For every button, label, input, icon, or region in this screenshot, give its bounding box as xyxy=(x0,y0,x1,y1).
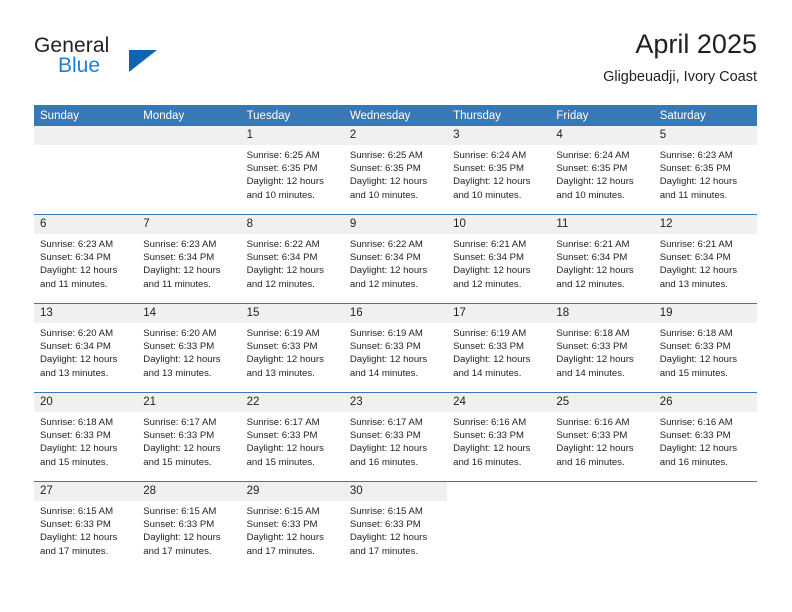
daylight-text-line1: Daylight: 12 hours xyxy=(143,353,233,366)
day-number: 26 xyxy=(654,393,757,412)
calendar-week-row: 27Sunrise: 6:15 AMSunset: 6:33 PMDayligh… xyxy=(34,482,757,571)
sunset-text: Sunset: 6:33 PM xyxy=(247,340,337,353)
day-cell[interactable]: 29Sunrise: 6:15 AMSunset: 6:33 PMDayligh… xyxy=(241,482,344,570)
calendar-cell: 18Sunrise: 6:18 AMSunset: 6:33 PMDayligh… xyxy=(550,304,653,393)
daylight-text-line1: Daylight: 12 hours xyxy=(660,442,750,455)
calendar-cell: 8Sunrise: 6:22 AMSunset: 6:34 PMDaylight… xyxy=(241,215,344,304)
day-number: 16 xyxy=(344,304,447,323)
daylight-text-line2: and 15 minutes. xyxy=(143,456,233,469)
sunrise-text: Sunrise: 6:22 AM xyxy=(350,238,440,251)
daylight-text-line1: Daylight: 12 hours xyxy=(350,353,440,366)
daylight-text-line2: and 15 minutes. xyxy=(247,456,337,469)
logo-text-blue: Blue xyxy=(58,54,100,78)
sunset-text: Sunset: 6:33 PM xyxy=(350,429,440,442)
calendar-page: General Blue April 2025 Gligbeuadji, Ivo… xyxy=(0,0,792,612)
day-info: Sunrise: 6:20 AMSunset: 6:34 PMDaylight:… xyxy=(34,323,137,380)
daylight-text-line1: Daylight: 12 hours xyxy=(350,264,440,277)
sunset-text: Sunset: 6:35 PM xyxy=(660,162,750,175)
day-info: Sunrise: 6:23 AMSunset: 6:35 PMDaylight:… xyxy=(654,145,757,202)
weekday-header-saturday: Saturday xyxy=(654,105,757,126)
sunset-text: Sunset: 6:34 PM xyxy=(453,251,543,264)
daylight-text-line1: Daylight: 12 hours xyxy=(556,353,646,366)
day-info: Sunrise: 6:17 AMSunset: 6:33 PMDaylight:… xyxy=(344,412,447,469)
day-info: Sunrise: 6:18 AMSunset: 6:33 PMDaylight:… xyxy=(34,412,137,469)
day-info: Sunrise: 6:18 AMSunset: 6:33 PMDaylight:… xyxy=(550,323,653,380)
sunrise-text: Sunrise: 6:16 AM xyxy=(453,416,543,429)
weekday-header-monday: Monday xyxy=(137,105,240,126)
sunset-text: Sunset: 6:33 PM xyxy=(556,429,646,442)
daylight-text-line1: Daylight: 12 hours xyxy=(453,442,543,455)
day-info: Sunrise: 6:23 AMSunset: 6:34 PMDaylight:… xyxy=(137,234,240,291)
day-info: Sunrise: 6:23 AMSunset: 6:34 PMDaylight:… xyxy=(34,234,137,291)
day-cell[interactable]: 23Sunrise: 6:17 AMSunset: 6:33 PMDayligh… xyxy=(344,393,447,481)
sunset-text: Sunset: 6:33 PM xyxy=(453,340,543,353)
daylight-text-line2: and 16 minutes. xyxy=(350,456,440,469)
calendar-header-row: Sunday Monday Tuesday Wednesday Thursday… xyxy=(34,105,757,126)
title-block: April 2025 Gligbeuadji, Ivory Coast xyxy=(603,28,757,86)
sunrise-text: Sunrise: 6:25 AM xyxy=(350,149,440,162)
day-number: 11 xyxy=(550,215,653,234)
day-info: Sunrise: 6:17 AMSunset: 6:33 PMDaylight:… xyxy=(241,412,344,469)
calendar-cell xyxy=(447,482,550,571)
day-info: Sunrise: 6:21 AMSunset: 6:34 PMDaylight:… xyxy=(550,234,653,291)
daylight-text-line2: and 13 minutes. xyxy=(247,367,337,380)
sunrise-text: Sunrise: 6:17 AM xyxy=(143,416,233,429)
day-cell[interactable]: 5Sunrise: 6:23 AMSunset: 6:35 PMDaylight… xyxy=(654,126,757,214)
sunrise-text: Sunrise: 6:18 AM xyxy=(40,416,130,429)
calendar-cell: 15Sunrise: 6:19 AMSunset: 6:33 PMDayligh… xyxy=(241,304,344,393)
day-cell[interactable]: 12Sunrise: 6:21 AMSunset: 6:34 PMDayligh… xyxy=(654,215,757,303)
day-number: 4 xyxy=(550,126,653,145)
day-number: 5 xyxy=(654,126,757,145)
sunset-text: Sunset: 6:33 PM xyxy=(143,429,233,442)
calendar-cell: 3Sunrise: 6:24 AMSunset: 6:35 PMDaylight… xyxy=(447,126,550,215)
day-cell[interactable]: 19Sunrise: 6:18 AMSunset: 6:33 PMDayligh… xyxy=(654,304,757,392)
day-number xyxy=(34,126,137,145)
calendar-week-row: 13Sunrise: 6:20 AMSunset: 6:34 PMDayligh… xyxy=(34,304,757,393)
day-number: 28 xyxy=(137,482,240,501)
daylight-text-line1: Daylight: 12 hours xyxy=(40,264,130,277)
logo-triangle-icon xyxy=(129,50,157,72)
sunrise-text: Sunrise: 6:16 AM xyxy=(660,416,750,429)
calendar-cell: 1Sunrise: 6:25 AMSunset: 6:35 PMDaylight… xyxy=(241,126,344,215)
day-number: 6 xyxy=(34,215,137,234)
weekday-header-friday: Friday xyxy=(550,105,653,126)
day-info: Sunrise: 6:19 AMSunset: 6:33 PMDaylight:… xyxy=(241,323,344,380)
daylight-text-line1: Daylight: 12 hours xyxy=(40,442,130,455)
daylight-text-line1: Daylight: 12 hours xyxy=(660,175,750,188)
day-number: 9 xyxy=(344,215,447,234)
sunrise-text: Sunrise: 6:23 AM xyxy=(660,149,750,162)
day-cell[interactable]: 18Sunrise: 6:18 AMSunset: 6:33 PMDayligh… xyxy=(550,304,653,392)
daylight-text-line2: and 10 minutes. xyxy=(350,189,440,202)
calendar-cell xyxy=(34,126,137,215)
sunrise-text: Sunrise: 6:20 AM xyxy=(143,327,233,340)
sunrise-text: Sunrise: 6:24 AM xyxy=(556,149,646,162)
day-info: Sunrise: 6:16 AMSunset: 6:33 PMDaylight:… xyxy=(550,412,653,469)
sunset-text: Sunset: 6:35 PM xyxy=(247,162,337,175)
calendar-cell: 7Sunrise: 6:23 AMSunset: 6:34 PMDaylight… xyxy=(137,215,240,304)
day-number: 14 xyxy=(137,304,240,323)
calendar-cell: 28Sunrise: 6:15 AMSunset: 6:33 PMDayligh… xyxy=(137,482,240,571)
daylight-text-line2: and 10 minutes. xyxy=(247,189,337,202)
calendar-week-row: 20Sunrise: 6:18 AMSunset: 6:33 PMDayligh… xyxy=(34,393,757,482)
daylight-text-line2: and 14 minutes. xyxy=(453,367,543,380)
day-number: 30 xyxy=(344,482,447,501)
sunrise-text: Sunrise: 6:22 AM xyxy=(247,238,337,251)
calendar-cell: 14Sunrise: 6:20 AMSunset: 6:33 PMDayligh… xyxy=(137,304,240,393)
weekday-header-tuesday: Tuesday xyxy=(241,105,344,126)
daylight-text-line1: Daylight: 12 hours xyxy=(247,175,337,188)
sunrise-text: Sunrise: 6:23 AM xyxy=(143,238,233,251)
daylight-text-line2: and 11 minutes. xyxy=(40,278,130,291)
day-info: Sunrise: 6:15 AMSunset: 6:33 PMDaylight:… xyxy=(137,501,240,558)
day-cell[interactable]: 24Sunrise: 6:16 AMSunset: 6:33 PMDayligh… xyxy=(447,393,550,481)
day-number: 10 xyxy=(447,215,550,234)
daylight-text-line2: and 13 minutes. xyxy=(40,367,130,380)
daylight-text-line2: and 17 minutes. xyxy=(350,545,440,558)
day-cell[interactable]: 14Sunrise: 6:20 AMSunset: 6:33 PMDayligh… xyxy=(137,304,240,392)
sunset-text: Sunset: 6:33 PM xyxy=(247,518,337,531)
calendar-cell: 4Sunrise: 6:24 AMSunset: 6:35 PMDaylight… xyxy=(550,126,653,215)
daylight-text-line1: Daylight: 12 hours xyxy=(40,353,130,366)
calendar-cell: 26Sunrise: 6:16 AMSunset: 6:33 PMDayligh… xyxy=(654,393,757,482)
day-cell[interactable]: 26Sunrise: 6:16 AMSunset: 6:33 PMDayligh… xyxy=(654,393,757,481)
sunset-text: Sunset: 6:34 PM xyxy=(556,251,646,264)
day-info: Sunrise: 6:15 AMSunset: 6:33 PMDaylight:… xyxy=(34,501,137,558)
daylight-text-line2: and 12 minutes. xyxy=(247,278,337,291)
calendar-cell: 19Sunrise: 6:18 AMSunset: 6:33 PMDayligh… xyxy=(654,304,757,393)
daylight-text-line2: and 14 minutes. xyxy=(556,367,646,380)
daylight-text-line2: and 13 minutes. xyxy=(660,278,750,291)
day-info: Sunrise: 6:19 AMSunset: 6:33 PMDaylight:… xyxy=(447,323,550,380)
daylight-text-line2: and 10 minutes. xyxy=(556,189,646,202)
sunset-text: Sunset: 6:33 PM xyxy=(660,340,750,353)
calendar-cell: 17Sunrise: 6:19 AMSunset: 6:33 PMDayligh… xyxy=(447,304,550,393)
sunset-text: Sunset: 6:33 PM xyxy=(143,340,233,353)
day-number: 7 xyxy=(137,215,240,234)
calendar-cell: 20Sunrise: 6:18 AMSunset: 6:33 PMDayligh… xyxy=(34,393,137,482)
day-cell[interactable]: 13Sunrise: 6:20 AMSunset: 6:34 PMDayligh… xyxy=(34,304,137,392)
sunrise-text: Sunrise: 6:16 AM xyxy=(556,416,646,429)
daylight-text-line2: and 12 minutes. xyxy=(350,278,440,291)
weekday-header-thursday: Thursday xyxy=(447,105,550,126)
daylight-text-line2: and 17 minutes. xyxy=(40,545,130,558)
calendar-cell: 21Sunrise: 6:17 AMSunset: 6:33 PMDayligh… xyxy=(137,393,240,482)
day-info: Sunrise: 6:18 AMSunset: 6:33 PMDaylight:… xyxy=(654,323,757,380)
calendar-cell: 24Sunrise: 6:16 AMSunset: 6:33 PMDayligh… xyxy=(447,393,550,482)
calendar-cell xyxy=(550,482,653,571)
daylight-text-line2: and 14 minutes. xyxy=(350,367,440,380)
daylight-text-line2: and 17 minutes. xyxy=(247,545,337,558)
sunset-text: Sunset: 6:33 PM xyxy=(247,429,337,442)
day-cell-empty xyxy=(550,482,653,570)
calendar-cell: 5Sunrise: 6:23 AMSunset: 6:35 PMDaylight… xyxy=(654,126,757,215)
daylight-text-line2: and 10 minutes. xyxy=(453,189,543,202)
day-info: Sunrise: 6:16 AMSunset: 6:33 PMDaylight:… xyxy=(654,412,757,469)
day-number xyxy=(447,482,550,501)
sunset-text: Sunset: 6:33 PM xyxy=(350,518,440,531)
daylight-text-line2: and 13 minutes. xyxy=(143,367,233,380)
day-info: Sunrise: 6:20 AMSunset: 6:33 PMDaylight:… xyxy=(137,323,240,380)
weekday-header-sunday: Sunday xyxy=(34,105,137,126)
day-cell[interactable]: 3Sunrise: 6:24 AMSunset: 6:35 PMDaylight… xyxy=(447,126,550,214)
day-cell[interactable]: 28Sunrise: 6:15 AMSunset: 6:33 PMDayligh… xyxy=(137,482,240,570)
day-cell-empty xyxy=(34,126,137,214)
daylight-text-line2: and 11 minutes. xyxy=(660,189,750,202)
daylight-text-line1: Daylight: 12 hours xyxy=(247,264,337,277)
day-cell[interactable]: 15Sunrise: 6:19 AMSunset: 6:33 PMDayligh… xyxy=(241,304,344,392)
day-cell[interactable]: 17Sunrise: 6:19 AMSunset: 6:33 PMDayligh… xyxy=(447,304,550,392)
daylight-text-line2: and 17 minutes. xyxy=(143,545,233,558)
day-number: 15 xyxy=(241,304,344,323)
sunset-text: Sunset: 6:33 PM xyxy=(350,340,440,353)
day-cell[interactable]: 21Sunrise: 6:17 AMSunset: 6:33 PMDayligh… xyxy=(137,393,240,481)
day-cell[interactable]: 20Sunrise: 6:18 AMSunset: 6:33 PMDayligh… xyxy=(34,393,137,481)
calendar-cell: 25Sunrise: 6:16 AMSunset: 6:33 PMDayligh… xyxy=(550,393,653,482)
sunrise-text: Sunrise: 6:18 AM xyxy=(660,327,750,340)
calendar-cell: 12Sunrise: 6:21 AMSunset: 6:34 PMDayligh… xyxy=(654,215,757,304)
sunset-text: Sunset: 6:34 PM xyxy=(660,251,750,264)
daylight-text-line1: Daylight: 12 hours xyxy=(556,264,646,277)
sunrise-text: Sunrise: 6:15 AM xyxy=(143,505,233,518)
day-info: Sunrise: 6:25 AMSunset: 6:35 PMDaylight:… xyxy=(344,145,447,202)
day-number: 8 xyxy=(241,215,344,234)
calendar-body: 1Sunrise: 6:25 AMSunset: 6:35 PMDaylight… xyxy=(34,126,757,570)
sunrise-text: Sunrise: 6:17 AM xyxy=(350,416,440,429)
sunrise-text: Sunrise: 6:19 AM xyxy=(350,327,440,340)
sunset-text: Sunset: 6:34 PM xyxy=(247,251,337,264)
sunrise-text: Sunrise: 6:24 AM xyxy=(453,149,543,162)
daylight-text-line1: Daylight: 12 hours xyxy=(556,175,646,188)
daylight-text-line2: and 16 minutes. xyxy=(556,456,646,469)
calendar-week-row: 1Sunrise: 6:25 AMSunset: 6:35 PMDaylight… xyxy=(34,126,757,215)
sunset-text: Sunset: 6:34 PM xyxy=(40,251,130,264)
daylight-text-line1: Daylight: 12 hours xyxy=(453,353,543,366)
page-title: April 2025 xyxy=(603,28,757,60)
day-cell[interactable]: 9Sunrise: 6:22 AMSunset: 6:34 PMDaylight… xyxy=(344,215,447,303)
calendar-cell: 23Sunrise: 6:17 AMSunset: 6:33 PMDayligh… xyxy=(344,393,447,482)
day-number: 2 xyxy=(344,126,447,145)
calendar-week-row: 6Sunrise: 6:23 AMSunset: 6:34 PMDaylight… xyxy=(34,215,757,304)
daylight-text-line2: and 15 minutes. xyxy=(660,367,750,380)
day-number xyxy=(654,482,757,501)
daylight-text-line1: Daylight: 12 hours xyxy=(143,531,233,544)
daylight-text-line2: and 16 minutes. xyxy=(453,456,543,469)
sunset-text: Sunset: 6:33 PM xyxy=(453,429,543,442)
day-number xyxy=(137,126,240,145)
day-number: 27 xyxy=(34,482,137,501)
day-cell[interactable]: 7Sunrise: 6:23 AMSunset: 6:34 PMDaylight… xyxy=(137,215,240,303)
day-number: 24 xyxy=(447,393,550,412)
day-number xyxy=(550,482,653,501)
day-number: 25 xyxy=(550,393,653,412)
sunrise-text: Sunrise: 6:20 AM xyxy=(40,327,130,340)
sunset-text: Sunset: 6:33 PM xyxy=(40,429,130,442)
day-info: Sunrise: 6:24 AMSunset: 6:35 PMDaylight:… xyxy=(550,145,653,202)
sunrise-sunset-calendar: Sunday Monday Tuesday Wednesday Thursday… xyxy=(34,105,757,570)
sunrise-text: Sunrise: 6:18 AM xyxy=(556,327,646,340)
day-cell[interactable]: 25Sunrise: 6:16 AMSunset: 6:33 PMDayligh… xyxy=(550,393,653,481)
day-number: 21 xyxy=(137,393,240,412)
daylight-text-line1: Daylight: 12 hours xyxy=(660,353,750,366)
sunrise-text: Sunrise: 6:23 AM xyxy=(40,238,130,251)
sunrise-text: Sunrise: 6:21 AM xyxy=(556,238,646,251)
day-info: Sunrise: 6:21 AMSunset: 6:34 PMDaylight:… xyxy=(447,234,550,291)
calendar-cell: 6Sunrise: 6:23 AMSunset: 6:34 PMDaylight… xyxy=(34,215,137,304)
day-info: Sunrise: 6:19 AMSunset: 6:33 PMDaylight:… xyxy=(344,323,447,380)
day-cell[interactable]: 8Sunrise: 6:22 AMSunset: 6:34 PMDaylight… xyxy=(241,215,344,303)
day-number: 18 xyxy=(550,304,653,323)
calendar-cell xyxy=(654,482,757,571)
day-info: Sunrise: 6:22 AMSunset: 6:34 PMDaylight:… xyxy=(344,234,447,291)
daylight-text-line1: Daylight: 12 hours xyxy=(350,531,440,544)
sunrise-text: Sunrise: 6:15 AM xyxy=(247,505,337,518)
daylight-text-line1: Daylight: 12 hours xyxy=(143,264,233,277)
day-cell[interactable]: 10Sunrise: 6:21 AMSunset: 6:34 PMDayligh… xyxy=(447,215,550,303)
day-info: Sunrise: 6:16 AMSunset: 6:33 PMDaylight:… xyxy=(447,412,550,469)
calendar-cell: 2Sunrise: 6:25 AMSunset: 6:35 PMDaylight… xyxy=(344,126,447,215)
sunrise-text: Sunrise: 6:25 AM xyxy=(247,149,337,162)
day-number: 1 xyxy=(241,126,344,145)
day-cell[interactable]: 30Sunrise: 6:15 AMSunset: 6:33 PMDayligh… xyxy=(344,482,447,570)
daylight-text-line1: Daylight: 12 hours xyxy=(247,353,337,366)
daylight-text-line1: Daylight: 12 hours xyxy=(453,175,543,188)
daylight-text-line1: Daylight: 12 hours xyxy=(247,442,337,455)
calendar-cell: 27Sunrise: 6:15 AMSunset: 6:33 PMDayligh… xyxy=(34,482,137,571)
day-cell[interactable]: 6Sunrise: 6:23 AMSunset: 6:34 PMDaylight… xyxy=(34,215,137,303)
sunrise-text: Sunrise: 6:19 AM xyxy=(247,327,337,340)
day-number: 17 xyxy=(447,304,550,323)
day-number: 23 xyxy=(344,393,447,412)
sunset-text: Sunset: 6:35 PM xyxy=(453,162,543,175)
day-cell[interactable]: 2Sunrise: 6:25 AMSunset: 6:35 PMDaylight… xyxy=(344,126,447,214)
page-header: General Blue April 2025 Gligbeuadji, Ivo… xyxy=(0,0,792,100)
calendar-cell: 9Sunrise: 6:22 AMSunset: 6:34 PMDaylight… xyxy=(344,215,447,304)
sunrise-text: Sunrise: 6:15 AM xyxy=(350,505,440,518)
day-info: Sunrise: 6:25 AMSunset: 6:35 PMDaylight:… xyxy=(241,145,344,202)
sunset-text: Sunset: 6:33 PM xyxy=(660,429,750,442)
day-cell[interactable]: 4Sunrise: 6:24 AMSunset: 6:35 PMDaylight… xyxy=(550,126,653,214)
daylight-text-line1: Daylight: 12 hours xyxy=(40,531,130,544)
calendar-cell: 11Sunrise: 6:21 AMSunset: 6:34 PMDayligh… xyxy=(550,215,653,304)
day-cell[interactable]: 27Sunrise: 6:15 AMSunset: 6:33 PMDayligh… xyxy=(34,482,137,570)
day-info: Sunrise: 6:21 AMSunset: 6:34 PMDaylight:… xyxy=(654,234,757,291)
day-info: Sunrise: 6:17 AMSunset: 6:33 PMDaylight:… xyxy=(137,412,240,469)
daylight-text-line1: Daylight: 12 hours xyxy=(453,264,543,277)
sunrise-text: Sunrise: 6:21 AM xyxy=(453,238,543,251)
day-number: 3 xyxy=(447,126,550,145)
calendar-cell: 16Sunrise: 6:19 AMSunset: 6:33 PMDayligh… xyxy=(344,304,447,393)
daylight-text-line1: Daylight: 12 hours xyxy=(350,442,440,455)
daylight-text-line1: Daylight: 12 hours xyxy=(660,264,750,277)
day-cell[interactable]: 11Sunrise: 6:21 AMSunset: 6:34 PMDayligh… xyxy=(550,215,653,303)
weekday-header-wednesday: Wednesday xyxy=(344,105,447,126)
day-number: 13 xyxy=(34,304,137,323)
daylight-text-line1: Daylight: 12 hours xyxy=(247,531,337,544)
generalblue-logo[interactable]: General Blue xyxy=(34,34,184,84)
day-info: Sunrise: 6:15 AMSunset: 6:33 PMDaylight:… xyxy=(344,501,447,558)
daylight-text-line2: and 11 minutes. xyxy=(143,278,233,291)
daylight-text-line2: and 16 minutes. xyxy=(660,456,750,469)
daylight-text-line1: Daylight: 12 hours xyxy=(143,442,233,455)
sunset-text: Sunset: 6:35 PM xyxy=(556,162,646,175)
sunrise-text: Sunrise: 6:17 AM xyxy=(247,416,337,429)
daylight-text-line2: and 12 minutes. xyxy=(556,278,646,291)
sunrise-text: Sunrise: 6:19 AM xyxy=(453,327,543,340)
day-cell-empty xyxy=(654,482,757,570)
calendar-cell xyxy=(137,126,240,215)
daylight-text-line2: and 12 minutes. xyxy=(453,278,543,291)
calendar-cell: 13Sunrise: 6:20 AMSunset: 6:34 PMDayligh… xyxy=(34,304,137,393)
day-number: 29 xyxy=(241,482,344,501)
day-cell[interactable]: 1Sunrise: 6:25 AMSunset: 6:35 PMDaylight… xyxy=(241,126,344,214)
sunset-text: Sunset: 6:34 PM xyxy=(350,251,440,264)
sunset-text: Sunset: 6:35 PM xyxy=(350,162,440,175)
calendar-cell: 30Sunrise: 6:15 AMSunset: 6:33 PMDayligh… xyxy=(344,482,447,571)
day-info: Sunrise: 6:22 AMSunset: 6:34 PMDaylight:… xyxy=(241,234,344,291)
sunset-text: Sunset: 6:34 PM xyxy=(143,251,233,264)
day-number: 20 xyxy=(34,393,137,412)
day-cell-empty xyxy=(447,482,550,570)
day-cell-empty xyxy=(137,126,240,214)
day-info: Sunrise: 6:24 AMSunset: 6:35 PMDaylight:… xyxy=(447,145,550,202)
daylight-text-line1: Daylight: 12 hours xyxy=(350,175,440,188)
sunrise-text: Sunrise: 6:15 AM xyxy=(40,505,130,518)
sunset-text: Sunset: 6:33 PM xyxy=(40,518,130,531)
sunset-text: Sunset: 6:33 PM xyxy=(556,340,646,353)
day-info: Sunrise: 6:15 AMSunset: 6:33 PMDaylight:… xyxy=(241,501,344,558)
calendar-cell: 10Sunrise: 6:21 AMSunset: 6:34 PMDayligh… xyxy=(447,215,550,304)
sunset-text: Sunset: 6:33 PM xyxy=(143,518,233,531)
daylight-text-line2: and 15 minutes. xyxy=(40,456,130,469)
calendar-cell: 22Sunrise: 6:17 AMSunset: 6:33 PMDayligh… xyxy=(241,393,344,482)
page-subtitle: Gligbeuadji, Ivory Coast xyxy=(603,69,757,86)
calendar-cell: 29Sunrise: 6:15 AMSunset: 6:33 PMDayligh… xyxy=(241,482,344,571)
sunrise-text: Sunrise: 6:21 AM xyxy=(660,238,750,251)
day-number: 19 xyxy=(654,304,757,323)
day-cell[interactable]: 16Sunrise: 6:19 AMSunset: 6:33 PMDayligh… xyxy=(344,304,447,392)
sunset-text: Sunset: 6:34 PM xyxy=(40,340,130,353)
day-cell[interactable]: 22Sunrise: 6:17 AMSunset: 6:33 PMDayligh… xyxy=(241,393,344,481)
day-number: 22 xyxy=(241,393,344,412)
daylight-text-line1: Daylight: 12 hours xyxy=(556,442,646,455)
day-number: 12 xyxy=(654,215,757,234)
